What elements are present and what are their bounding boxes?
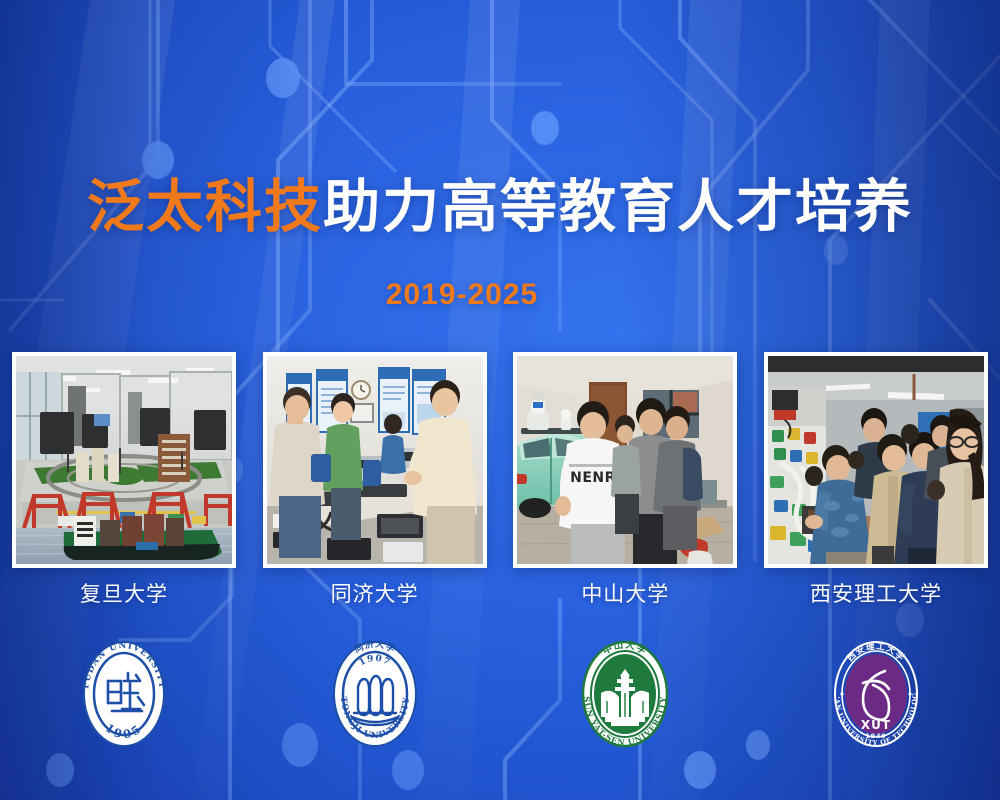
logo-cell-fudan: FUDAN UNIVERSITY 1905 [12, 628, 236, 760]
photo-gallery: NENR [12, 352, 988, 568]
university-label-xut: 西安理工大学 [764, 580, 988, 614]
photo-card-sysu[interactable]: NENR [513, 352, 737, 568]
xut-year-text: 1949 [865, 732, 886, 740]
smart-city-port-model-photo [16, 356, 232, 564]
xian-university-of-technology-logo: 西安理工大学 XI'AN UNIVERSITY OF TECHNOLOGY XU… [823, 631, 929, 757]
logo-cell-sysu: 中山大学 SUN YAT-SEN UNIVERSITY [513, 628, 737, 760]
photo-card-tongji[interactable] [263, 352, 487, 568]
university-label-tongji: 同济大学 [263, 580, 487, 614]
fudan-university-logo: FUDAN UNIVERSITY 1905 [72, 631, 176, 757]
university-label-fudan: 复旦大学 [12, 580, 236, 614]
photo-card-xut[interactable] [764, 352, 988, 568]
university-logo-row: FUDAN UNIVERSITY 1905 [12, 628, 988, 760]
sun-yat-sen-university-logo: 中山大学 SUN YAT-SEN UNIVERSITY [571, 631, 679, 757]
students-equipment-visit-photo [768, 356, 984, 564]
equipment-lab-training-photo [267, 356, 483, 564]
title-accent-text: 泛太科技 [87, 175, 323, 239]
logo-cell-tongji: 同济大学 TONGJI UNIVERSITY 1907 [263, 628, 487, 760]
svg-text:NENR: NENR [570, 470, 616, 486]
page-title: 泛太科技助力高等教育人才培养 [0, 176, 1000, 240]
poster-stage: 泛太科技助力高等教育人才培养 2019-2025 [0, 0, 1000, 800]
autonomous-vehicle-demo-photo: NENR [517, 356, 733, 564]
xut-abbr-text: XUT [861, 718, 891, 732]
university-label-sysu: 中山大学 [513, 580, 737, 614]
title-plain-text: 助力高等教育人才培养 [323, 175, 913, 239]
photo-card-fudan[interactable] [12, 352, 236, 568]
university-label-row: 复旦大学 同济大学 中山大学 西安理工大学 [12, 580, 988, 614]
tongji-university-logo: 同济大学 TONGJI UNIVERSITY 1907 [322, 631, 428, 757]
logo-cell-xut: 西安理工大学 XI'AN UNIVERSITY OF TECHNOLOGY XU… [764, 628, 988, 760]
year-range-label: 2019-2025 [0, 278, 1000, 312]
